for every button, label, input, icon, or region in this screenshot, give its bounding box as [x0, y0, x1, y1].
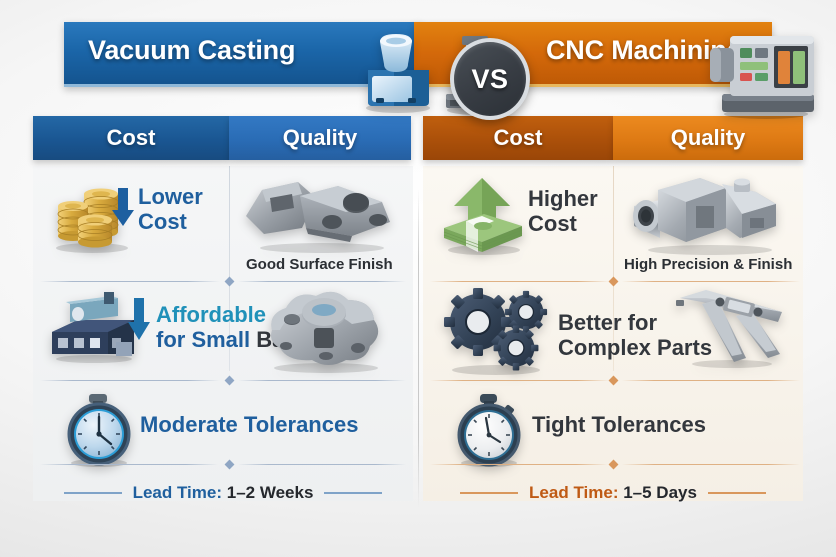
left-header-cost: Cost: [33, 116, 229, 160]
center-divider: [418, 188, 419, 508]
left-row-separator-3a: [40, 464, 218, 465]
right-cost-line2: Cost: [528, 211, 598, 236]
left-row-separator-1b: [238, 281, 406, 282]
stopwatch-icon: [452, 392, 526, 468]
infographic-canvas: Vacuum Casting CNC Machining VS Cost Qua…: [0, 0, 836, 557]
right-lead-time-value: 1–5 Days: [623, 483, 697, 502]
left-cost-line2a-r2: for Small: [156, 327, 250, 352]
right-row-separator-1b: [622, 281, 800, 282]
left-row-separator-2b: [238, 380, 406, 381]
precision-machined-part-icon: [630, 170, 786, 256]
lead-rule-left: [460, 492, 518, 494]
left-cost-line2: Cost: [138, 209, 203, 234]
right-cost-line1: Higher: [528, 186, 598, 211]
gears-icon: [442, 286, 550, 376]
right-lead-time-text: Lead Time: 1–5 Days: [529, 483, 697, 503]
banner-left-title: Vacuum Casting: [88, 35, 295, 66]
right-row-separator-3b: [622, 464, 800, 465]
left-lead-time-key: Lead Time:: [133, 483, 222, 502]
left-row-separator-2a: [40, 380, 220, 381]
right-tolerance-label: Tight Tolerances: [532, 412, 706, 437]
right-quality-caption-1: High Precision & Finish: [624, 256, 792, 273]
vacuum-casting-machine-icon: [346, 30, 450, 114]
left-tolerance-label: Moderate Tolerances: [140, 412, 358, 437]
right-row-separator-1a: [430, 281, 610, 282]
left-cost-label-1: Lower Cost: [138, 184, 203, 234]
down-arrow-icon: [112, 188, 134, 228]
title-banner: Vacuum Casting CNC Machining VS: [64, 22, 772, 84]
lead-rule-left: [64, 492, 122, 494]
right-header-cost: Cost: [423, 116, 613, 160]
lead-rule-right: [708, 492, 766, 494]
left-row-separator-1a: [40, 281, 220, 282]
lead-rule-right: [324, 492, 382, 494]
machined-housing-part-icon: [262, 284, 390, 374]
stopwatch-icon: [62, 392, 136, 468]
left-quality-caption-1: Good Surface Finish: [246, 256, 393, 273]
left-row-separator-3b: [238, 464, 406, 465]
vs-badge: VS: [450, 38, 530, 120]
left-lead-time-text: Lead Time: 1–2 Weeks: [133, 483, 314, 503]
factory-building-icon: [48, 292, 140, 364]
left-lead-time-value: 1–2 Weeks: [227, 483, 314, 502]
right-row-separator-2b: [622, 380, 800, 381]
right-row-separator-3a: [430, 464, 608, 465]
vs-label: VS: [471, 64, 508, 95]
money-stack-up-arrow-icon: [436, 176, 528, 256]
right-header-quality: Quality: [613, 116, 803, 160]
left-cost-line1: Lower: [138, 184, 203, 209]
right-cost-label-1: Higher Cost: [528, 186, 598, 236]
cast-metal-part-icon: [240, 172, 400, 254]
down-arrow-icon: [128, 298, 150, 342]
right-row-separator-2a: [430, 380, 610, 381]
caliper-icon: [676, 288, 788, 370]
left-lead-time-row: Lead Time: 1–2 Weeks: [33, 481, 413, 505]
right-lead-time-key: Lead Time:: [529, 483, 618, 502]
left-header-quality: Quality: [229, 116, 411, 160]
cnc-enclosure-machine-icon: [704, 28, 826, 120]
right-lead-time-row: Lead Time: 1–5 Days: [423, 481, 803, 505]
